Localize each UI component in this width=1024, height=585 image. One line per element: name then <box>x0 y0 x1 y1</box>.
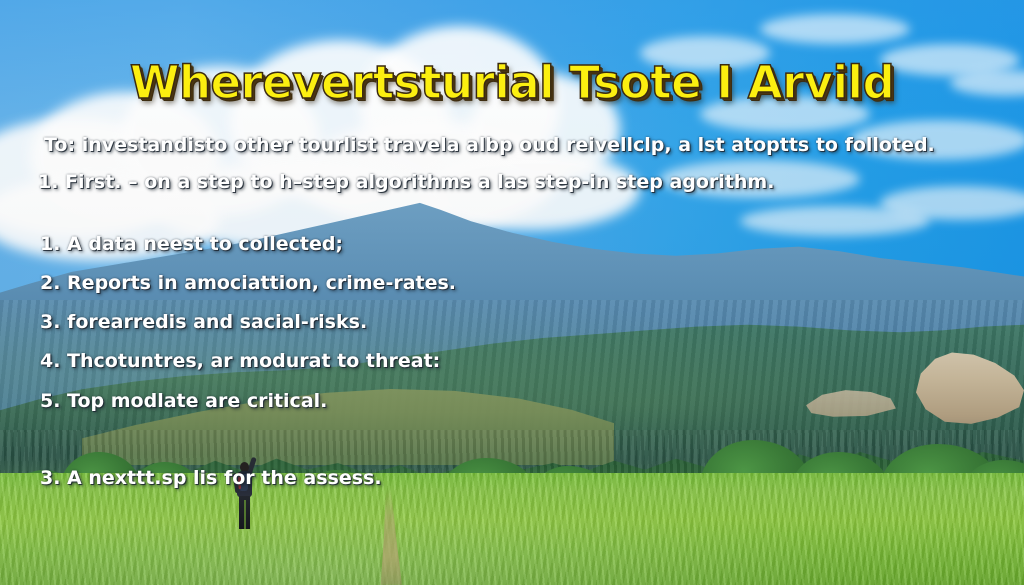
banner-title: Wherevertsturial Tsote I Arvild <box>0 56 1024 109</box>
list-item: 3. forearredis and sacial-risks. <box>40 311 367 333</box>
meadow-foreground <box>0 473 1024 585</box>
cloud-shape <box>740 206 930 236</box>
intro-line-2: 1. First. – on a step to h–step algorith… <box>38 171 774 193</box>
list-item: 2. Reports in amociattion, crime-rates. <box>40 272 456 294</box>
list-item: 5. Top modlate are critical. <box>40 390 327 412</box>
closing-line: 3. A nexttt.sp lis for the assess. <box>40 467 382 489</box>
list-item: 4. Thcotuntres, ar modurat to threat: <box>40 350 440 372</box>
travel-infographic-banner: Wherevertsturial Tsote I Arvild To: inve… <box>0 0 1024 585</box>
cloud-shape <box>760 14 910 44</box>
list-item: 1. A data neest to collected; <box>40 233 343 255</box>
hiker-legs <box>239 496 250 529</box>
intro-line-1: To: investandisto other tourlist travela… <box>44 134 935 156</box>
